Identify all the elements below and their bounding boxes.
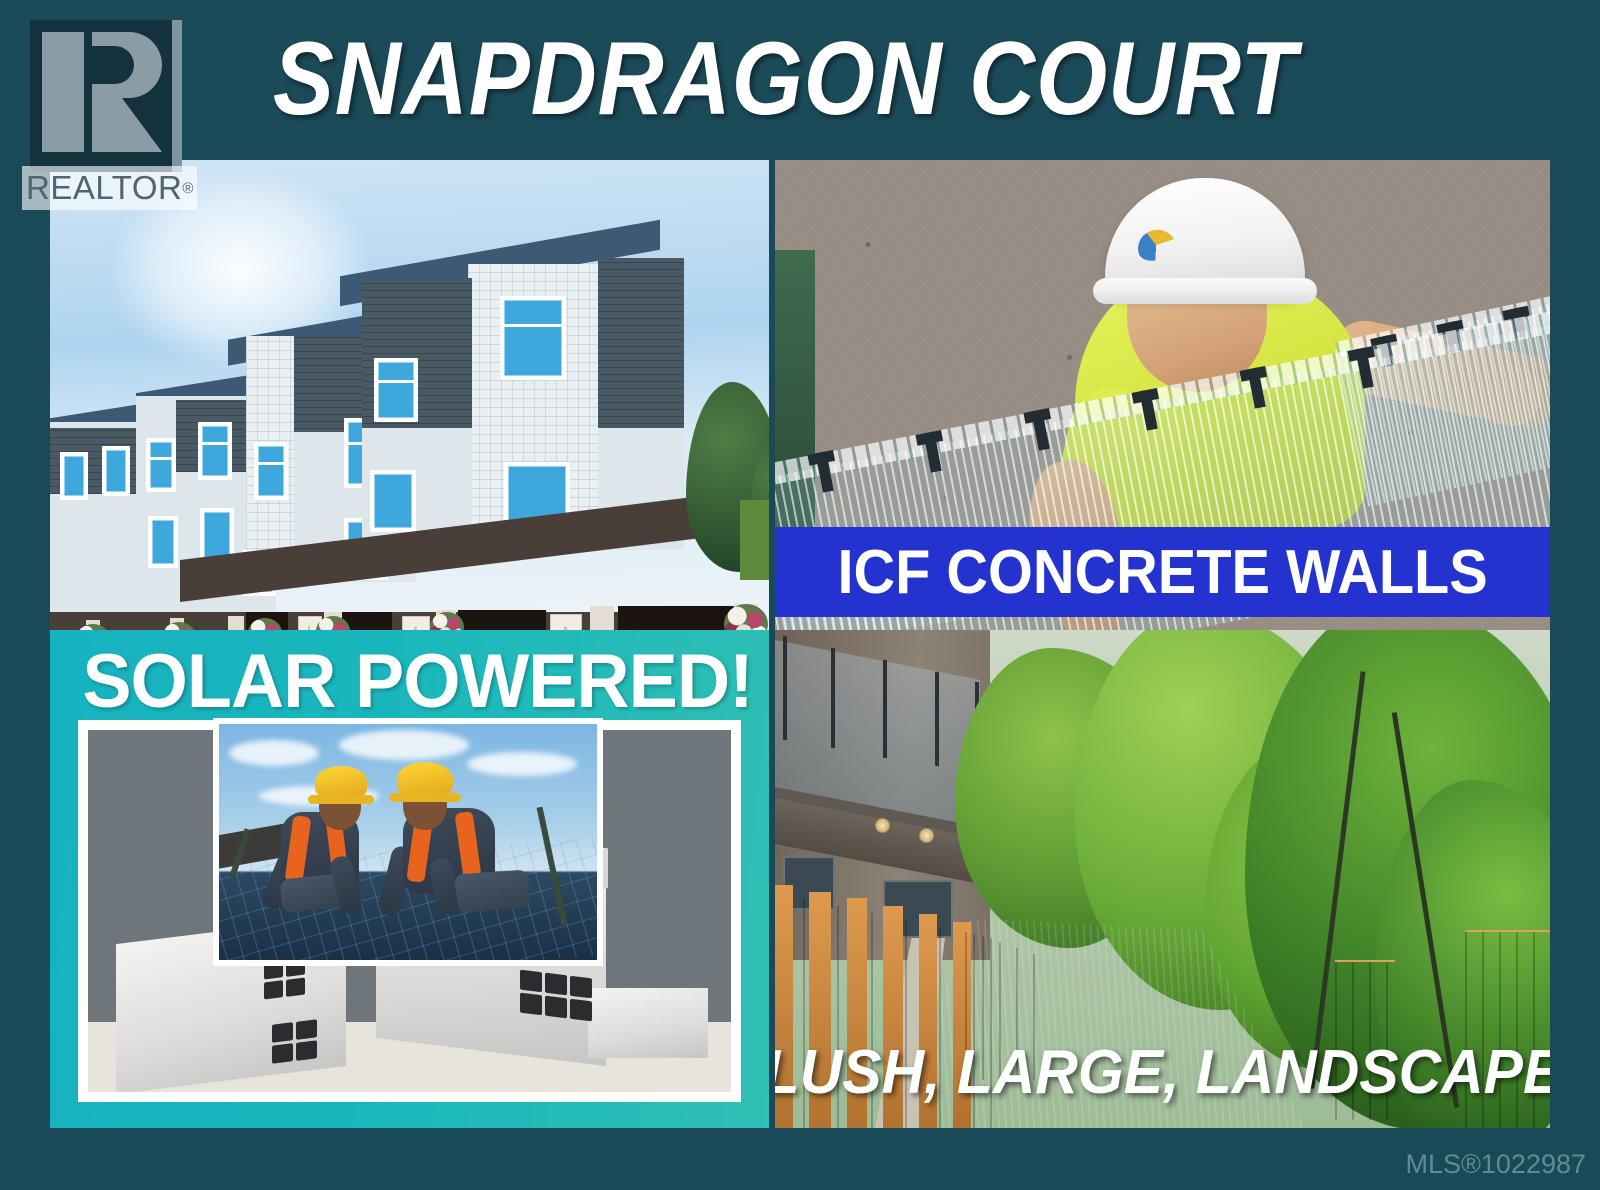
solar-cell xyxy=(520,993,542,1016)
mls-number: MLS®1022987 xyxy=(1405,1149,1586,1180)
railing-post xyxy=(783,636,787,741)
cloud xyxy=(339,730,469,760)
solar-cell xyxy=(286,977,305,996)
garage-opening xyxy=(618,606,738,630)
hard-hat-icon xyxy=(315,766,367,798)
railing-post xyxy=(935,672,939,767)
lap-siding-front-right xyxy=(598,258,684,438)
realtor-wordmark-label: REALTOR xyxy=(26,169,182,207)
solar-cell xyxy=(272,1022,293,1043)
soffit-light xyxy=(875,818,890,833)
solar-array-left-low xyxy=(272,1019,317,1064)
worker-leg xyxy=(454,869,530,912)
solar-cell xyxy=(570,999,592,1022)
icf-banner-label: ICF CONCRETE WALLS xyxy=(837,537,1487,608)
solar-cell xyxy=(296,1019,317,1040)
entry-door xyxy=(550,614,582,630)
solar-cell xyxy=(264,980,283,999)
window xyxy=(60,452,88,500)
realtor-wordmark: REALTOR® xyxy=(22,166,197,210)
window xyxy=(102,446,130,496)
page-title: SNAPDRAGON COURT xyxy=(283,14,1286,144)
window xyxy=(146,438,176,492)
porch-post xyxy=(590,606,614,630)
landscape-caption: LUSH, LARGE, LANDSCAPE xyxy=(812,1032,1515,1112)
realtor-logo: REALTOR® xyxy=(22,20,197,210)
window xyxy=(198,422,232,480)
hard-hat-logo-icon xyxy=(1133,225,1178,265)
townhouse-exterior-photo xyxy=(50,160,769,630)
solar-cell xyxy=(296,1040,317,1061)
railing-post xyxy=(831,648,835,749)
landscape-photo: LUSH, LARGE, LANDSCAPE xyxy=(775,630,1550,1128)
header-bar: SNAPDRAGON COURT xyxy=(0,0,1600,160)
logo-bowl-shape xyxy=(92,32,162,98)
window xyxy=(148,516,178,568)
solar-install-photo xyxy=(213,718,603,966)
solar-cell xyxy=(545,973,567,996)
realtor-r-icon xyxy=(30,20,182,172)
window xyxy=(254,442,288,500)
logo-bar-shape xyxy=(42,32,84,152)
building-render-annex xyxy=(588,988,708,1058)
lawn-strip xyxy=(740,500,769,580)
soffit-light xyxy=(919,828,934,843)
cloud xyxy=(229,740,319,766)
logo-leg-shape xyxy=(116,90,162,152)
entry-door xyxy=(402,616,430,630)
solar-cell xyxy=(520,970,542,993)
solar-cell xyxy=(272,1043,293,1064)
window xyxy=(500,296,566,380)
icf-banner: ICF CONCRETE WALLS xyxy=(775,527,1550,617)
garage-opening xyxy=(458,610,546,630)
solar-heading: SOLAR POWERED! xyxy=(82,636,751,726)
solar-cell xyxy=(570,976,592,999)
window xyxy=(370,470,416,532)
hard-hat-icon xyxy=(397,762,453,796)
solar-array-right-low xyxy=(520,970,592,1022)
solar-cell xyxy=(545,996,567,1019)
solar-powered-panel: SOLAR POWERED! xyxy=(50,630,769,1128)
railing-post xyxy=(883,660,887,759)
registered-mark-icon: ® xyxy=(182,180,194,197)
window xyxy=(374,358,418,422)
cloud xyxy=(467,752,577,776)
porch-post xyxy=(228,616,244,630)
